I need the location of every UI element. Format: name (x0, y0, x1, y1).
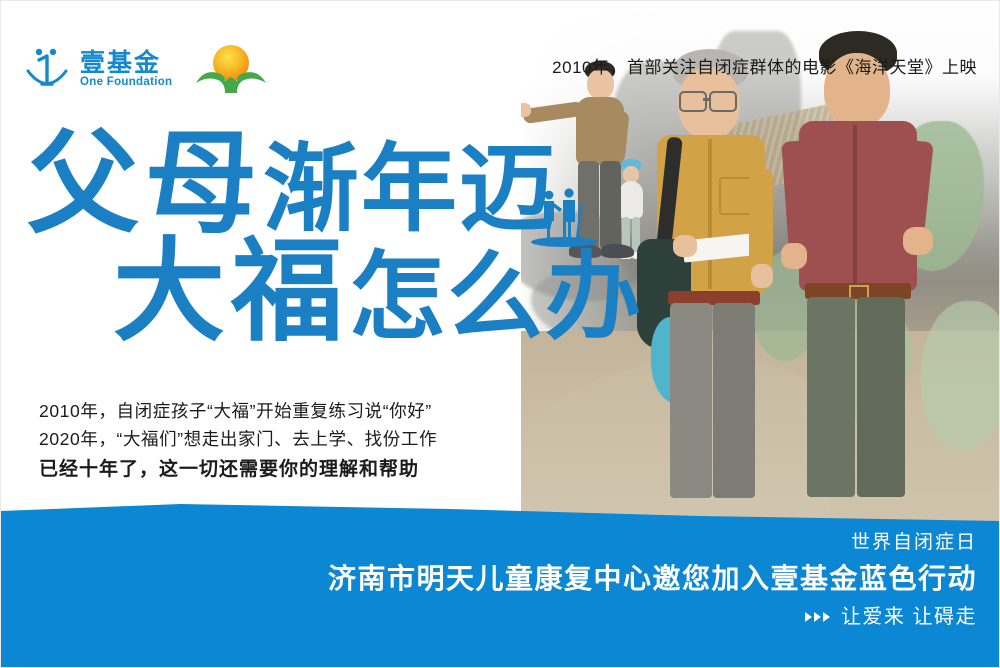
young-man-leg (807, 297, 855, 497)
body-copy: 2010年，自闭症孩子“大福”开始重复练习说“你好” 2020年，“大福们”想走… (39, 397, 437, 487)
father-shirt-pocket (719, 177, 753, 215)
footer-slogan: 让爱来 让碍走 (841, 601, 977, 633)
footer-eyebrow: 世界自闭症日 (328, 529, 977, 557)
young-man-shirt (799, 121, 917, 291)
logo-row: 壹基金 One Foundation (23, 43, 268, 95)
headline-line-2-lead: 大福 (113, 226, 349, 357)
young-man-shirt-placket (853, 125, 857, 285)
man-leg (600, 161, 621, 249)
father-hand (751, 264, 773, 288)
headline-line-1: 父母渐年迈 (27, 129, 557, 244)
body-emphasis-line: 已经十年了，这一切还需要你的理解和帮助 (39, 453, 437, 487)
one-foundation-logo: 壹基金 One Foundation (23, 44, 172, 94)
footer-band: 世界自闭症日 济南市明天儿童康复中心邀您加入壹基金蓝色行动 让爱来 让碍走 (1, 499, 999, 667)
body-line-1: 2010年，自闭症孩子“大福”开始重复练习说“你好” (39, 397, 437, 425)
footer-main-text: 济南市明天儿童康复中心邀您加入壹基金蓝色行动 (328, 557, 977, 601)
glasses-icon (709, 91, 737, 112)
headline-line-1-lead: 父母 (27, 118, 263, 249)
figure-elderly-father (651, 49, 786, 519)
glasses-bridge-icon (703, 98, 709, 101)
father-leg (670, 303, 712, 498)
one-foundation-wordmark: 壹基金 One Foundation (80, 50, 172, 88)
triple-right-arrow-icon (805, 612, 830, 622)
body-line-2: 2020年，“大福们”想走出家门、去上学、找份工作 (39, 425, 437, 453)
father-shirt-placket (708, 139, 712, 289)
two-walking-figures-silhouette-icon (529, 187, 599, 247)
father-leg (713, 303, 755, 498)
top-note: 2010年，首部关注自闭症群体的电影《海洋天堂》上映 (552, 53, 977, 78)
figure-young-man (791, 31, 936, 521)
father-arm (749, 169, 773, 269)
man-hand (521, 103, 531, 117)
footer-content: 世界自闭症日 济南市明天儿童康复中心邀您加入壹基金蓝色行动 让爱来 让碍走 (328, 529, 977, 633)
glasses-icon (679, 91, 707, 112)
footer-slogan-row: 让爱来 让碍走 (328, 601, 977, 633)
one-foundation-smiley-icon (23, 44, 71, 94)
young-man-leg (857, 297, 905, 497)
illustration-area (521, 1, 1000, 541)
father-hand (673, 235, 697, 257)
young-man-hand (903, 227, 933, 255)
org-name-cn: 壹基金 (80, 50, 172, 76)
org-name-en: One Foundation (80, 76, 172, 88)
poster-root: 壹基金 One Foundation 2010年，首部关注自闭症群体的电影《海洋… (0, 0, 1000, 668)
man-shoe (601, 244, 634, 258)
headline-line-1-rest: 渐年迈 (263, 132, 557, 245)
sunflower-sun-icon (194, 43, 268, 95)
young-man-hand (781, 243, 807, 269)
